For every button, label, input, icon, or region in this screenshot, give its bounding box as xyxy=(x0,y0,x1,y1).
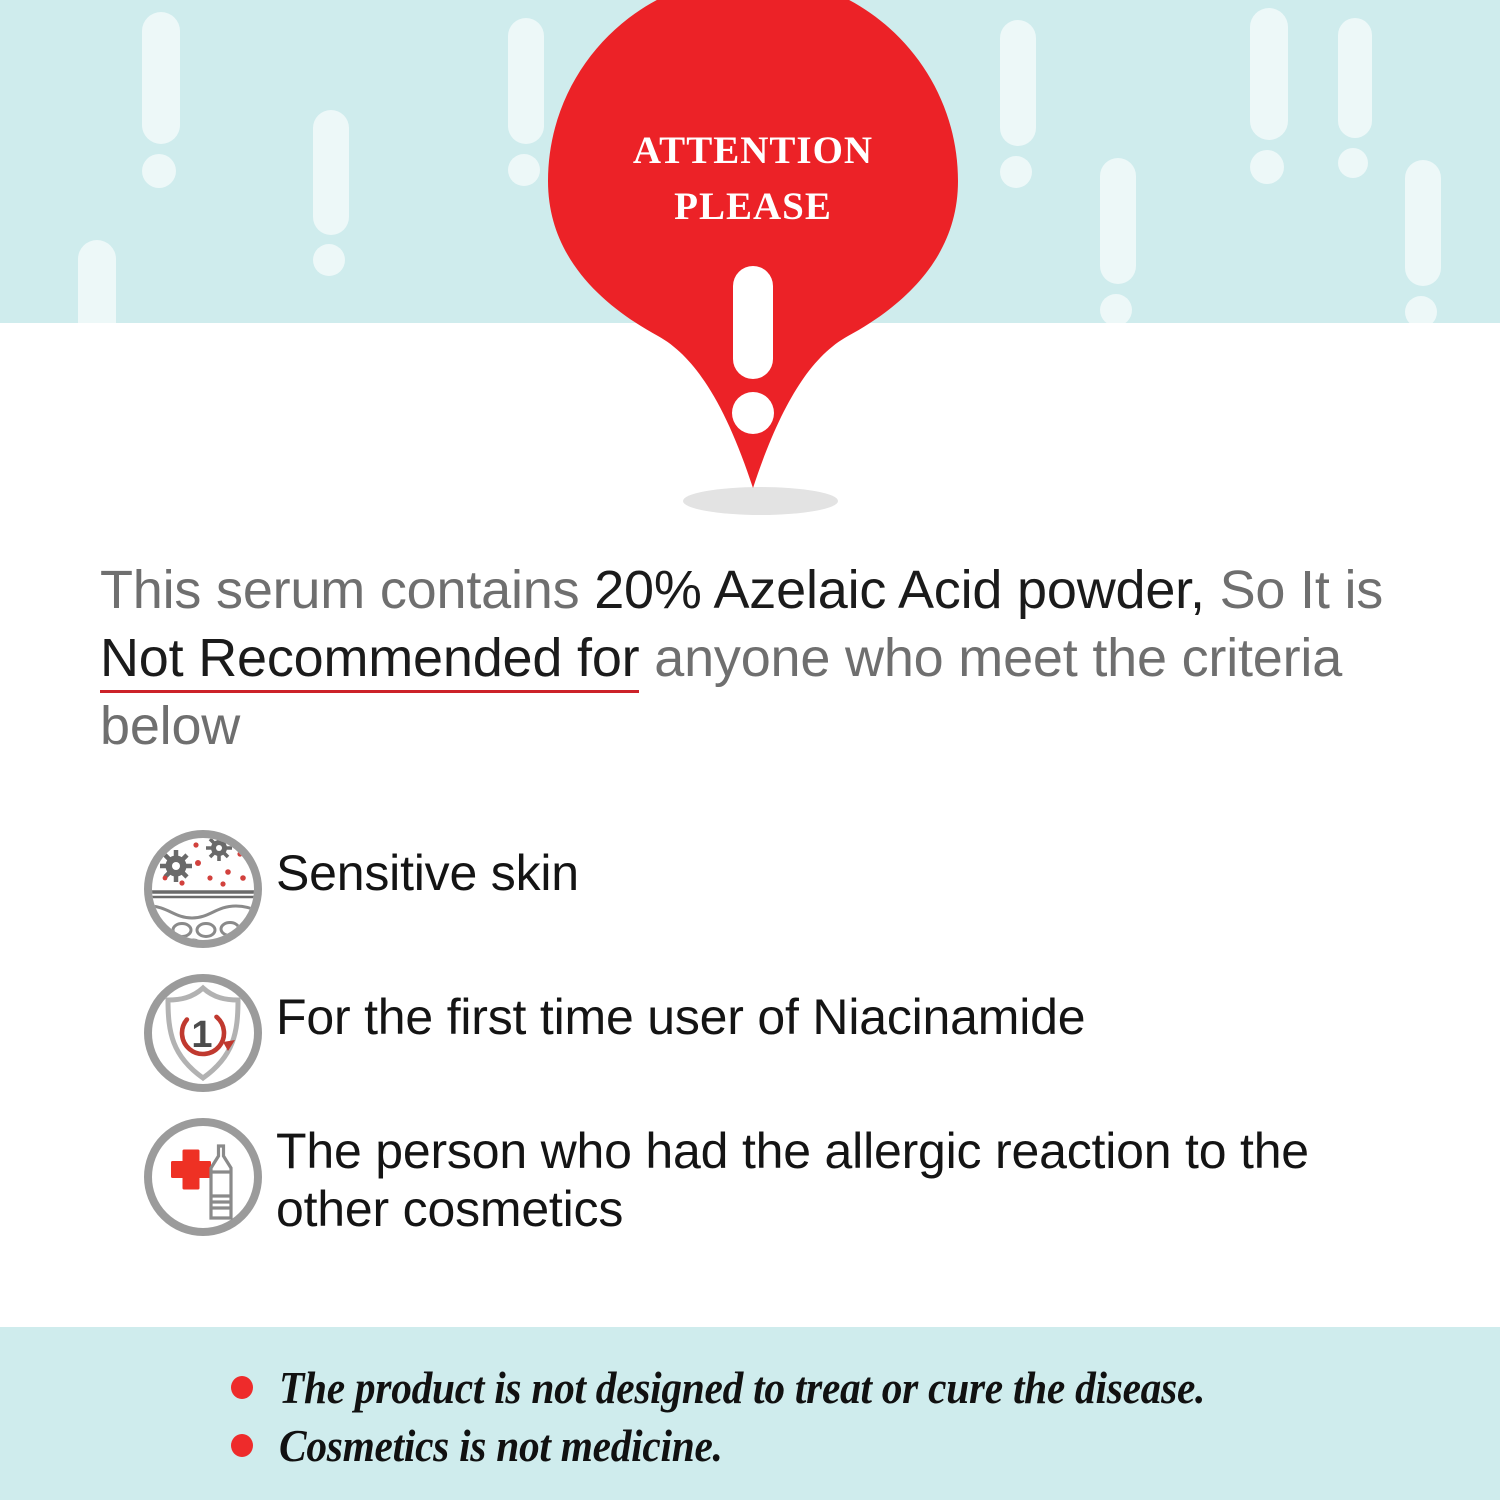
exclamation-mark-icon xyxy=(313,110,349,290)
exclamation-dot xyxy=(1000,156,1032,188)
exclamation-mark-icon xyxy=(1338,18,1372,190)
exclamation-mark-icon xyxy=(78,240,116,323)
intro-text-part2: So It is xyxy=(1205,560,1383,620)
exclamation-bar xyxy=(142,12,180,144)
exclamation-dot xyxy=(1100,294,1132,323)
criteria-label-sensitive-skin: Sensitive skin xyxy=(276,826,1430,902)
exclamation-dot xyxy=(142,154,176,188)
criteria-label-first-time-user: For the first time user of Niacinamide xyxy=(276,970,1430,1046)
bullet-dot-icon xyxy=(225,1362,279,1414)
exclamation-bar xyxy=(1100,158,1136,284)
attention-title: Attention Please xyxy=(548,118,958,228)
exclamation-dot xyxy=(1338,148,1368,178)
exclamation-dot xyxy=(1405,296,1437,323)
disclaimer-list: The product is not designed to treat or … xyxy=(225,1362,1425,1478)
svg-text:1: 1 xyxy=(191,1014,212,1056)
list-item: 1 For the first time user of Niacinamide xyxy=(140,970,1430,1096)
bullet-dot-icon xyxy=(225,1420,279,1472)
exclamation-bar xyxy=(1405,160,1441,286)
list-item: Sensitive skin xyxy=(140,826,1430,952)
exclamation-dot xyxy=(508,154,540,186)
exclamation-bar xyxy=(78,240,116,323)
intro-emphasis-not-recommended: Not Recommended for xyxy=(100,628,639,693)
list-item: The product is not designed to treat or … xyxy=(225,1362,1425,1414)
criteria-list: Sensitive skin 1 For the first time user… xyxy=(140,826,1430,1258)
criteria-label-allergic-reaction: The person who had the allergic reaction… xyxy=(276,1114,1430,1238)
cosmetic-tube-icon xyxy=(211,1146,231,1218)
attention-pin xyxy=(548,0,958,506)
exclamation-bar xyxy=(1000,20,1036,146)
shield-first-time-icon: 1 xyxy=(140,970,276,1096)
exclamation-bar xyxy=(1338,18,1372,138)
medical-cross-icon xyxy=(171,1150,211,1190)
exclamation-dot xyxy=(313,244,345,276)
attention-title-line1: Attention xyxy=(548,118,958,172)
allergic-reaction-cosmetics-icon xyxy=(140,1114,276,1240)
list-item: Cosmetics is not medicine. xyxy=(225,1420,1425,1472)
intro-paragraph: This serum contains 20% Azelaic Acid pow… xyxy=(100,556,1420,760)
exclamation-bar xyxy=(508,18,544,144)
list-item: The person who had the allergic reaction… xyxy=(140,1114,1430,1240)
exclamation-mark-icon xyxy=(1250,8,1288,198)
exclamation-mark-icon xyxy=(1000,20,1036,200)
exclamation-mark-icon xyxy=(1405,160,1441,323)
exclamation-mark-icon xyxy=(142,12,180,202)
intro-emphasis-dosage: 20% Azelaic Acid powder, xyxy=(594,560,1205,620)
exclamation-mark-icon xyxy=(732,266,774,434)
exclamation-bar xyxy=(1250,8,1288,140)
exclamation-mark-icon xyxy=(508,18,544,198)
exclamation-dot xyxy=(1250,150,1284,184)
attention-title-line2: Please xyxy=(548,174,958,228)
sensitive-skin-icon xyxy=(140,826,276,952)
intro-text-part1: This serum contains xyxy=(100,560,594,620)
exclamation-bar xyxy=(313,110,349,235)
exclamation-mark-icon xyxy=(1100,158,1136,323)
disclaimer-text-2: Cosmetics is not medicine. xyxy=(279,1420,1333,1472)
disclaimer-text-1: The product is not designed to treat or … xyxy=(279,1362,1333,1414)
